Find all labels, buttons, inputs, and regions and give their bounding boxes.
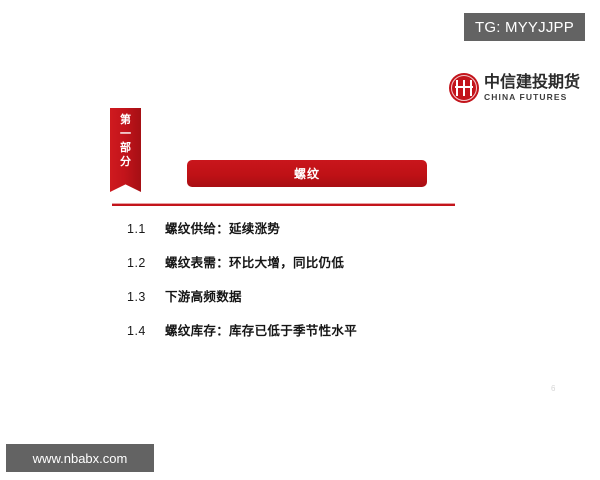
agenda-item: 1.4 螺纹库存：库存已低于季节性水平 — [127, 320, 547, 354]
agenda-item-number: 1.2 — [127, 256, 165, 270]
agenda-list: 1.1 螺纹供给：延续涨势 1.2 螺纹表需：环比大增，同比仍低 1.3 下游高… — [127, 218, 547, 354]
site-watermark-label: www.nbabx.com — [33, 451, 128, 466]
slide-canvas: TG: MYYJJPP 中信建投期货 CHINA FUTURES 第 一 部 分… — [0, 0, 600, 480]
page-number: 6 — [551, 384, 555, 393]
site-watermark-badge: www.nbabx.com — [6, 444, 154, 472]
company-logo-text: 中信建投期货 CHINA FUTURES — [484, 75, 580, 102]
section-title-bar: 螺纹 — [187, 160, 427, 187]
agenda-item-number: 1.3 — [127, 290, 165, 304]
logo-crossbar — [455, 86, 473, 88]
agenda-item-label: 螺纹库存：库存已低于季节性水平 — [165, 320, 357, 339]
section-ribbon-label: 第 一 部 分 — [110, 113, 141, 169]
citic-circle-logo-icon — [449, 73, 479, 103]
telegram-watermark-label: TG: MYYJJPP — [475, 19, 574, 36]
section-divider — [112, 203, 455, 206]
telegram-watermark-badge: TG: MYYJJPP — [464, 13, 585, 41]
section-ribbon-char-2: 一 — [110, 127, 141, 141]
agenda-item: 1.3 下游高频数据 — [127, 286, 547, 320]
agenda-item-label: 螺纹表需：环比大增，同比仍低 — [165, 252, 344, 271]
section-ribbon-char-3: 部 — [110, 141, 141, 155]
agenda-item-label: 下游高频数据 — [165, 286, 242, 305]
section-ribbon-tail-notch — [110, 175, 141, 192]
section-ribbon-char-4: 分 — [110, 155, 141, 169]
agenda-item-number: 1.1 — [127, 222, 165, 236]
section-title-text: 螺纹 — [294, 165, 320, 182]
logo-bar-center — [463, 80, 465, 96]
agenda-item: 1.2 螺纹表需：环比大增，同比仍低 — [127, 252, 547, 286]
logo-bar-right — [470, 80, 472, 96]
company-name-cn: 中信建投期货 — [484, 75, 580, 91]
section-ribbon-char-1: 第 — [110, 113, 141, 127]
agenda-item-number: 1.4 — [127, 324, 165, 338]
agenda-item-label: 螺纹供给：延续涨势 — [165, 218, 280, 237]
company-logo: 中信建投期货 CHINA FUTURES — [449, 70, 575, 106]
logo-bar-left — [456, 80, 458, 96]
company-name-en: CHINA FUTURES — [484, 93, 580, 102]
section-ribbon: 第 一 部 分 — [110, 108, 141, 192]
agenda-item: 1.1 螺纹供给：延续涨势 — [127, 218, 547, 252]
